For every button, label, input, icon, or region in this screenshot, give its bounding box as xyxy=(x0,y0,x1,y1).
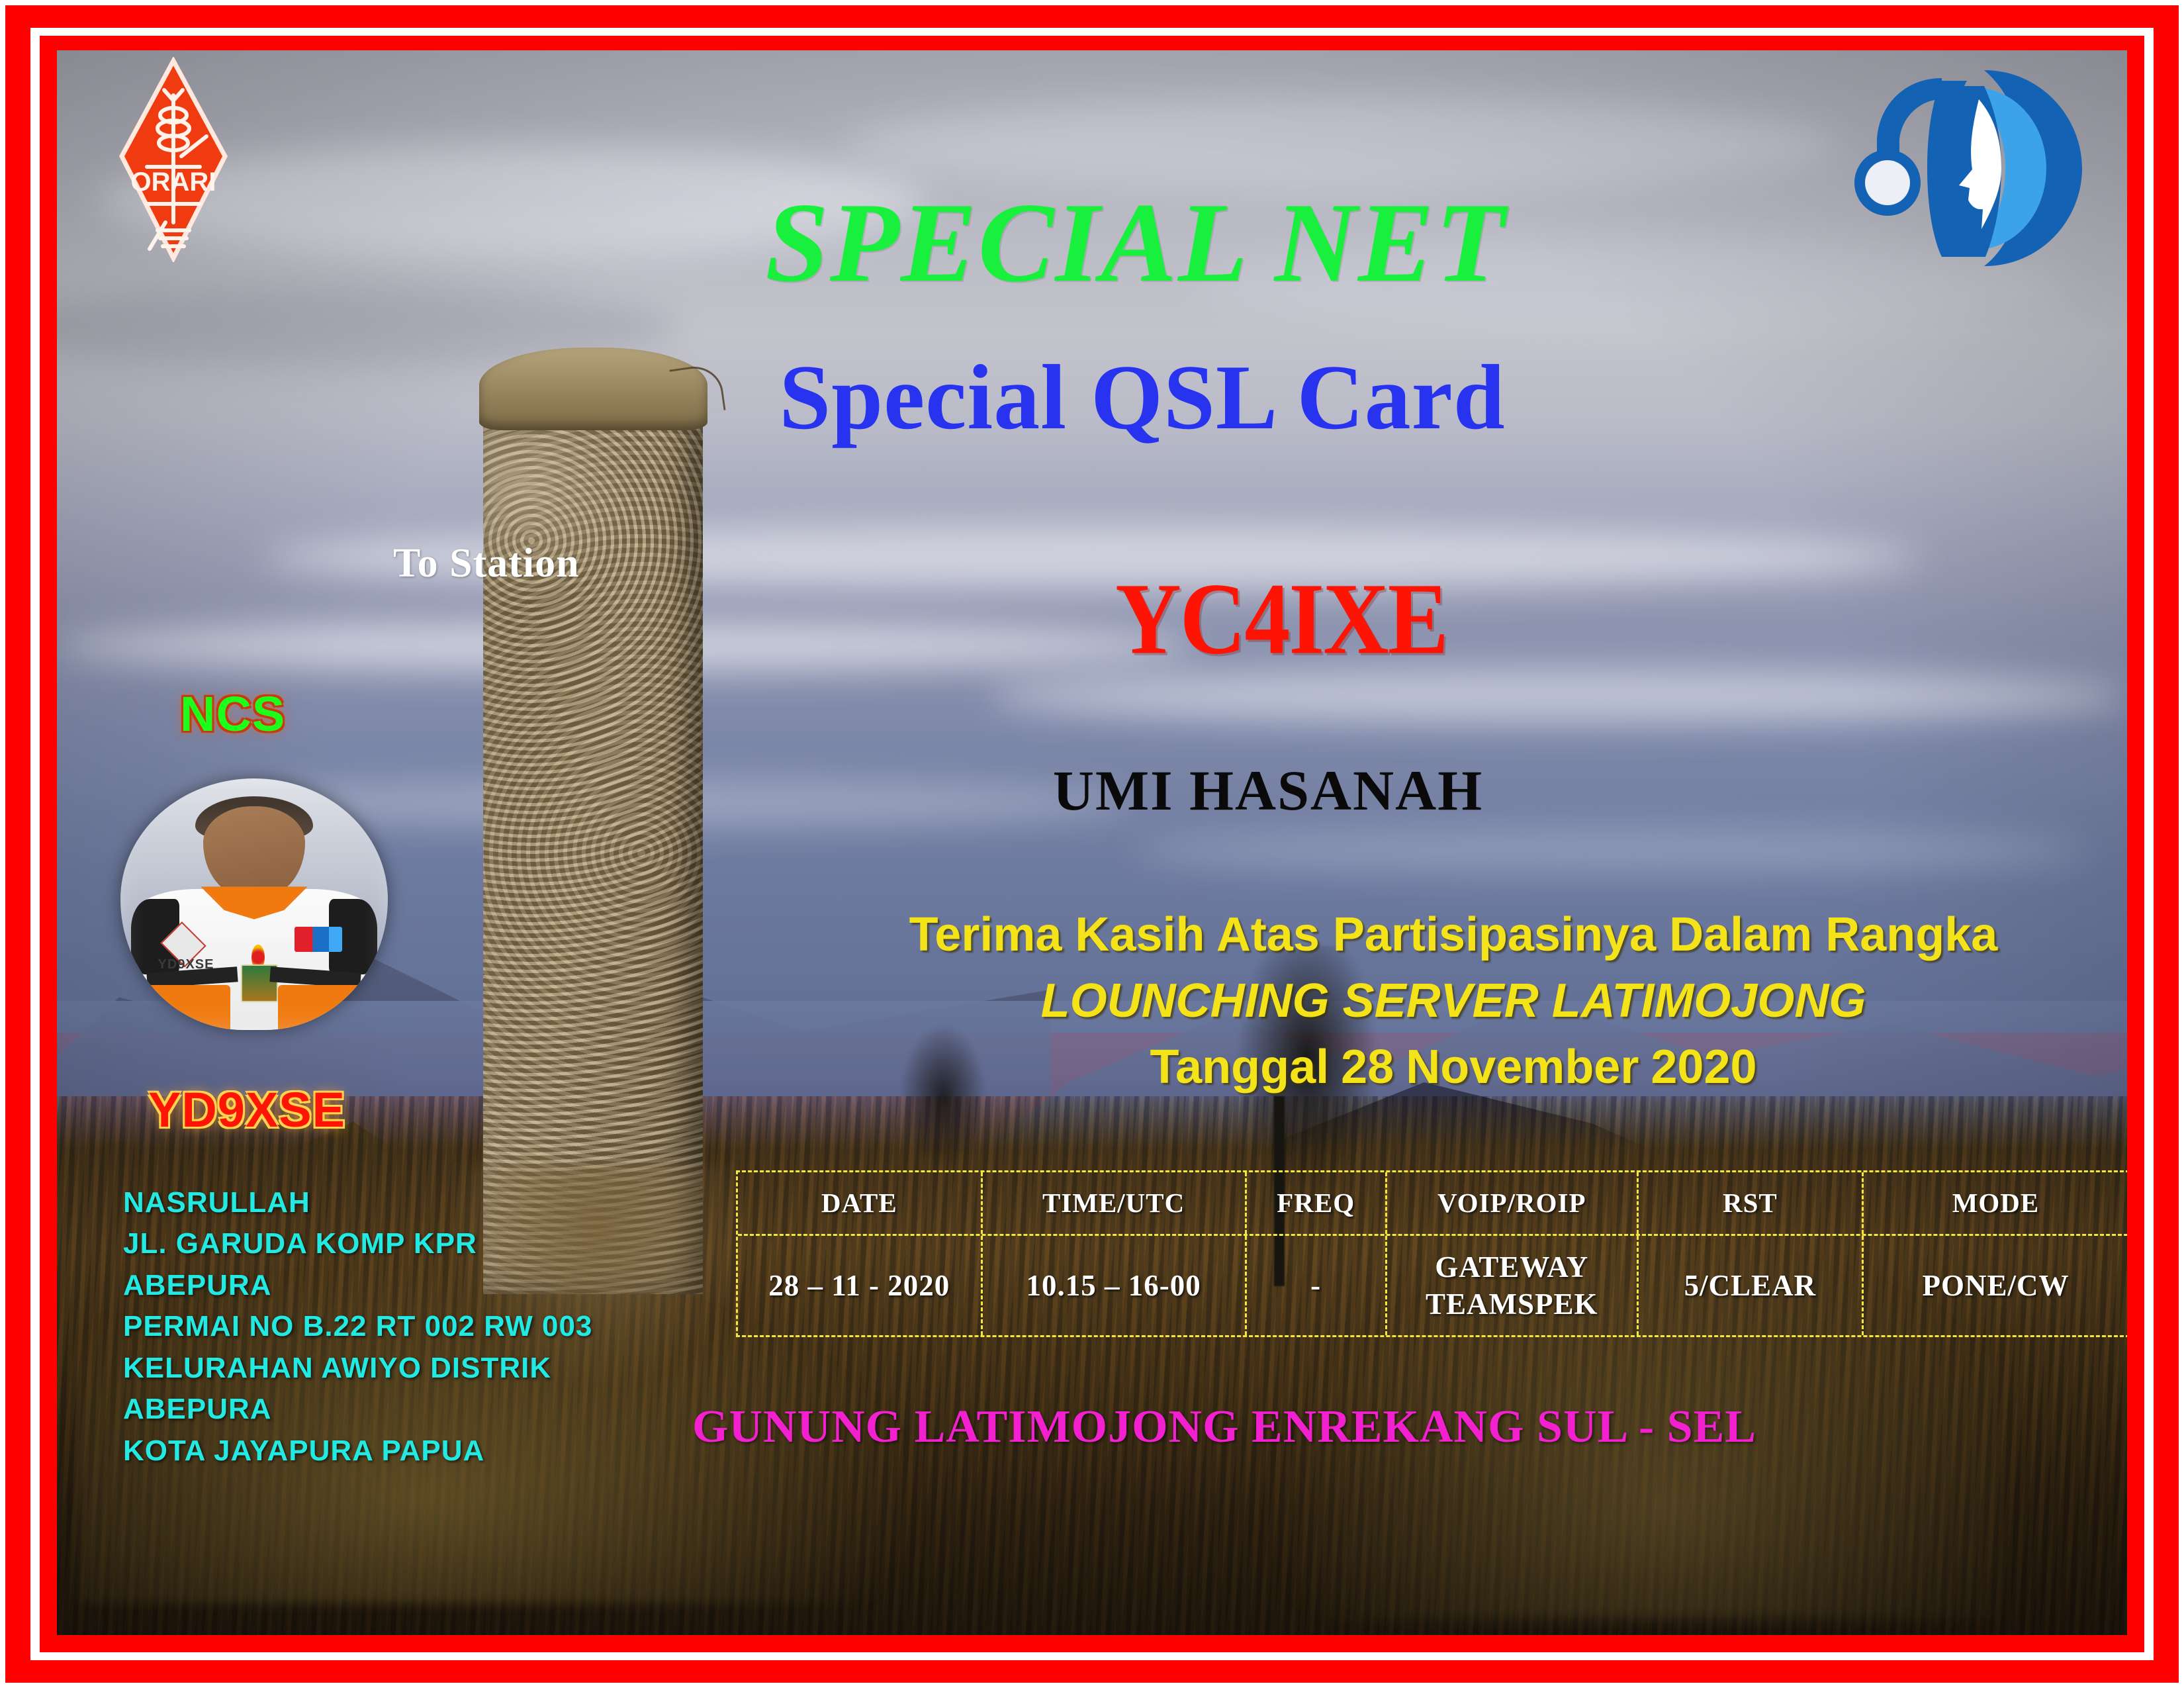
ncs-callsign: YD9XSE xyxy=(148,1082,345,1138)
date-year: 2020 xyxy=(1651,1041,1756,1094)
stone-cairn-monument xyxy=(483,375,703,1295)
cell-date: 28 – 11 - 2020 xyxy=(738,1236,983,1335)
cell-mode: PONE/CW xyxy=(1864,1236,2127,1335)
address-line: KELURAHAN AWIYO DISTRIK xyxy=(123,1348,705,1389)
footer-address: Address : amatir.latimojong.com xyxy=(1314,1627,1965,1635)
date-prefix: Tanggal xyxy=(1150,1041,1329,1094)
address-line: NASRULLAH xyxy=(123,1182,705,1223)
to-station-callsign: YC4IXE xyxy=(917,568,1645,671)
column-header-freq: FREQ xyxy=(1247,1172,1387,1234)
orari-logo: ORARI xyxy=(107,57,240,262)
qso-table: DATE TIME/UTC FREQ VOIP/ROIP RST MODE 28… xyxy=(736,1170,2127,1337)
table-row: 28 – 11 - 2020 10.15 – 16-00 - GATEWAY T… xyxy=(738,1234,2127,1335)
to-station-label: To Station xyxy=(393,540,580,587)
cell-voip-roip-line2: TEAMSPEK xyxy=(1426,1286,1598,1323)
address-line: ABEPURA xyxy=(123,1389,705,1430)
page-subtitle: Special QSL Card xyxy=(520,352,1764,444)
cloud xyxy=(844,98,1837,193)
date-month: November xyxy=(1406,1041,1639,1094)
address-line: JL. GARUDA KOMP KPR xyxy=(123,1223,705,1264)
footer-slogan: "AMATIR RADIO ADALAH PROGRESIVE" xyxy=(134,1627,1063,1635)
cloud xyxy=(989,669,2127,724)
headset-face-logo xyxy=(1843,58,2087,277)
event-date-line: Tanggal28November2020 xyxy=(825,1043,2082,1091)
tree-silhouette-small xyxy=(895,1017,991,1175)
event-line: LOUNCHING SERVER LATIMOJONG xyxy=(825,977,2082,1025)
address-line: PERMAI NO B.22 RT 002 RW 003 xyxy=(123,1306,705,1347)
location-caption: GUNUNG LATIMOJONG ENREKANG SUL - SEL xyxy=(692,1401,1950,1454)
to-station-operator-name: UMI HASANAH xyxy=(878,762,1659,819)
column-header-rst: RST xyxy=(1639,1172,1864,1234)
cell-freq: - xyxy=(1247,1236,1387,1335)
cell-rst: 5/CLEAR xyxy=(1639,1236,1864,1335)
cell-voip-roip-line1: GATEWAY xyxy=(1426,1248,1598,1286)
column-header-date: DATE xyxy=(738,1172,983,1234)
address-line: ABEPURA xyxy=(123,1265,705,1306)
column-header-mode: MODE xyxy=(1864,1172,2127,1234)
cairn-body xyxy=(483,375,703,1295)
ncs-label: NCS xyxy=(180,686,285,742)
ncs-postal-address: NASRULLAH JL. GARUDA KOMP KPR ABEPURA PE… xyxy=(123,1182,705,1472)
date-day: 28 xyxy=(1341,1041,1394,1094)
cell-time-utc: 10.15 – 16-00 xyxy=(983,1236,1247,1335)
address-line: KOTA JAYAPURA PAPUA xyxy=(123,1430,705,1472)
qsl-card: ORARI SPECIAL NET Special QSL Card To St… xyxy=(0,0,2184,1688)
orari-logo-label: ORARI xyxy=(131,167,216,197)
thanks-line: Terima Kasih Atas Partisipasinya Dalam R… xyxy=(805,911,2102,959)
column-header-time-utc: TIME/UTC xyxy=(983,1172,1247,1234)
table-header-row: DATE TIME/UTC FREQ VOIP/ROIP RST MODE xyxy=(738,1172,2127,1234)
cloud xyxy=(1134,827,2086,874)
page-title: SPECIAL NET xyxy=(520,186,1751,300)
photo-soft-overlay xyxy=(120,778,388,1030)
column-header-voip-roip: VOIP/ROIP xyxy=(1387,1172,1639,1234)
cell-voip-roip: GATEWAY TEAMSPEK xyxy=(1387,1236,1639,1335)
ncs-operator-photo: YD9XSE xyxy=(120,778,388,1030)
card-photo-stage: ORARI SPECIAL NET Special QSL Card To St… xyxy=(57,50,2127,1635)
